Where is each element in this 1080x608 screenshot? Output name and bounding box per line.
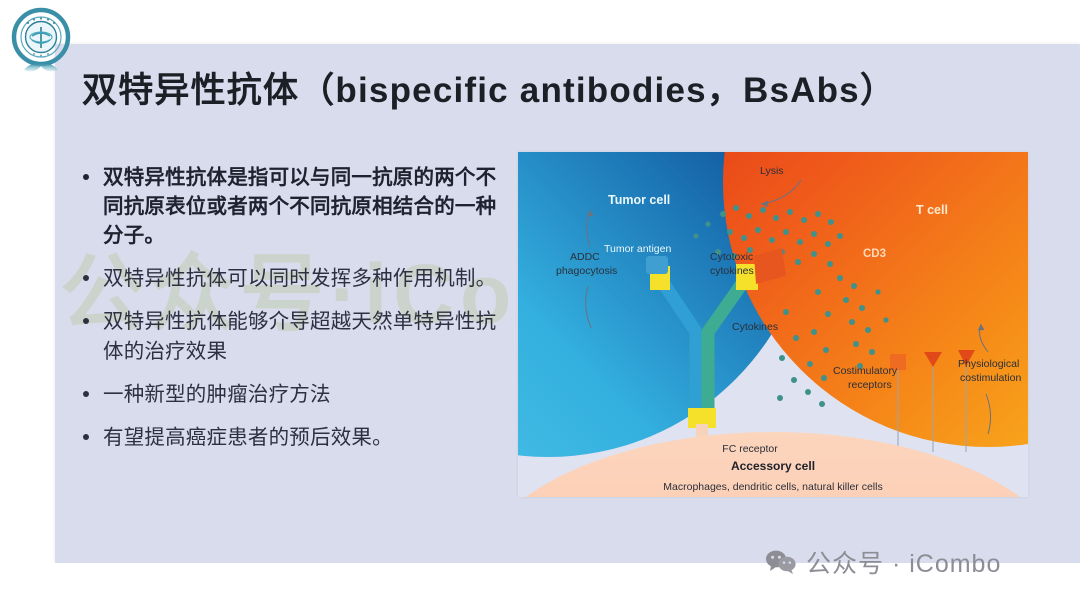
cytotoxic-cytokines-label-line1: Cytotoxic [710, 251, 753, 263]
fc-receptor-label: FC receptor [722, 443, 778, 455]
list-item: 双特异性抗体能够介导超越天然单特异性抗体的治疗效果 [78, 307, 498, 365]
tumor-antigen-peg [646, 256, 668, 274]
page-title: 双特异性抗体（bispecific antibodies，BsAbs） [82, 62, 896, 113]
list-item: 一种新型的肿瘤治疗方法 [78, 380, 498, 409]
bullet-list: 双特异性抗体是指可以与同一抗原的两个不同抗原表位或者两个不同抗原相结合的一种分子… [78, 163, 498, 466]
bsab-mechanism-diagram: Tumor cell Tumor antigen T cell CD3 Lysi… [518, 152, 1028, 497]
list-item: 有望提高癌症患者的预后效果。 [78, 423, 498, 452]
addc-label-line1: ADDC [570, 251, 600, 263]
costimulatory-receptors-label-line1: Costimulatory [833, 365, 898, 377]
cytokines-label: Cytokines [732, 321, 778, 333]
tumor-antigen-label: Tumor antigen [604, 243, 671, 255]
list-item: 双特异性抗体可以同时发挥多种作用机制。 [78, 264, 498, 293]
university-medical-emblem-icon [8, 6, 74, 78]
list-item: 双特异性抗体是指可以与同一抗原的两个不同抗原表位或者两个不同抗原相结合的一种分子… [78, 163, 498, 250]
accessory-cell-types-label: Macrophages, dendritic cells, natural ki… [663, 481, 882, 493]
accessory-cell-label: Accessory cell [731, 459, 815, 473]
university-logo [8, 6, 74, 78]
cd3-label: CD3 [863, 248, 886, 260]
footer-watermark-text: 公众号 · iCombo [806, 544, 1001, 580]
t-cell-label: T cell [916, 203, 948, 217]
diagram-canvas: Tumor cell Tumor antigen T cell CD3 Lysi… [518, 152, 1028, 497]
lysis-label: Lysis [760, 165, 784, 177]
cytotoxic-cytokines-label-line2: cytokines [710, 265, 754, 277]
physiological-costimulation-label-line1: Physiological [958, 358, 1019, 370]
addc-label-line2: phagocytosis [556, 265, 617, 277]
costimulatory-receptors-label-line2: receptors [848, 379, 892, 391]
wechat-icon [765, 549, 797, 575]
footer-watermark: 公众号 · iCombo [765, 544, 1001, 580]
tumor-cell-label: Tumor cell [608, 193, 670, 207]
physiological-costimulation-label-line2: costimulation [960, 372, 1021, 384]
